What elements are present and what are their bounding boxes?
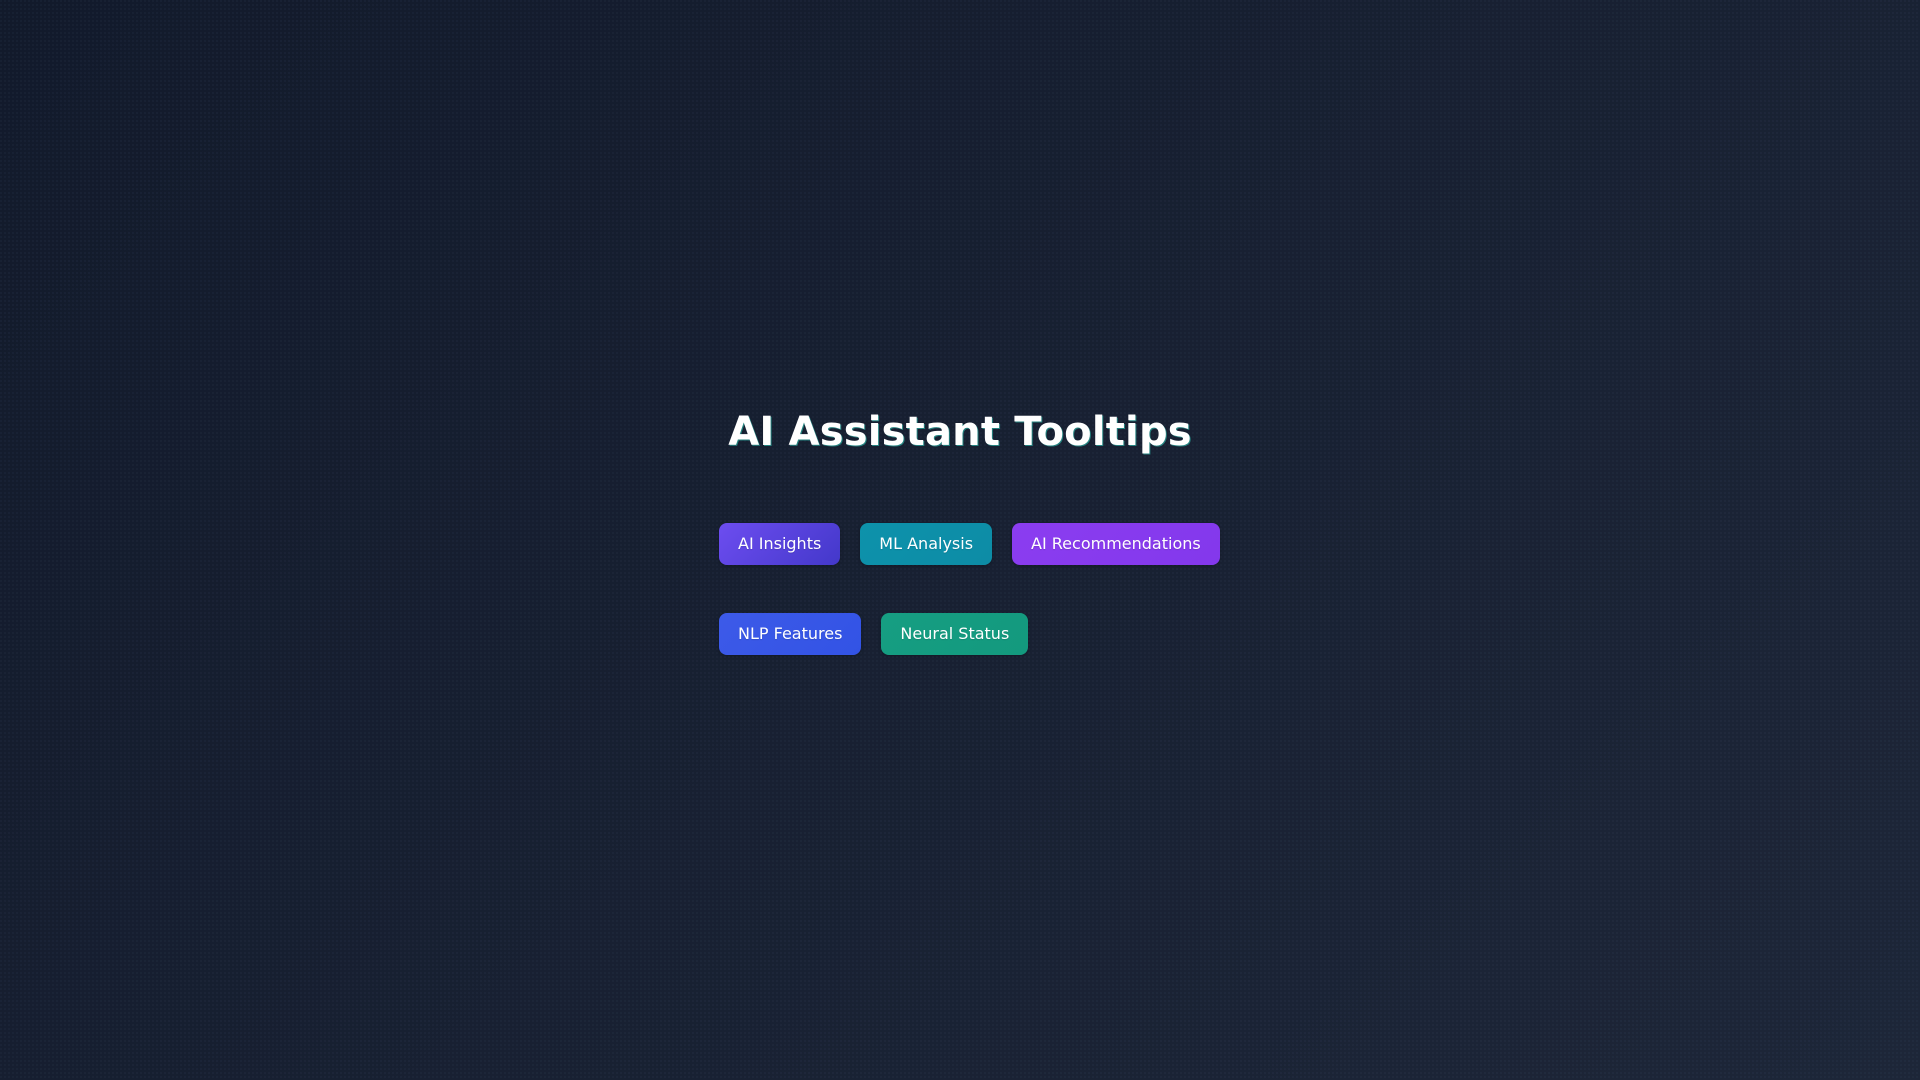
ai-recommendations-button[interactable]: AI Recommendations (1012, 523, 1220, 565)
nlp-features-button[interactable]: NLP Features (719, 613, 861, 655)
tooltip-button-row-secondary: NLP FeaturesNeural Status (719, 613, 1028, 655)
ai-insights-button[interactable]: AI Insights (719, 523, 840, 565)
app-root: AI Assistant Tooltips AI InsightsML Anal… (0, 0, 1920, 1080)
ml-analysis-button[interactable]: ML Analysis (860, 523, 992, 565)
neural-status-button[interactable]: Neural Status (881, 613, 1028, 655)
page-title: AI Assistant Tooltips (0, 408, 1920, 456)
tooltip-button-row-primary: AI InsightsML AnalysisAI Recommendations (719, 523, 1220, 565)
